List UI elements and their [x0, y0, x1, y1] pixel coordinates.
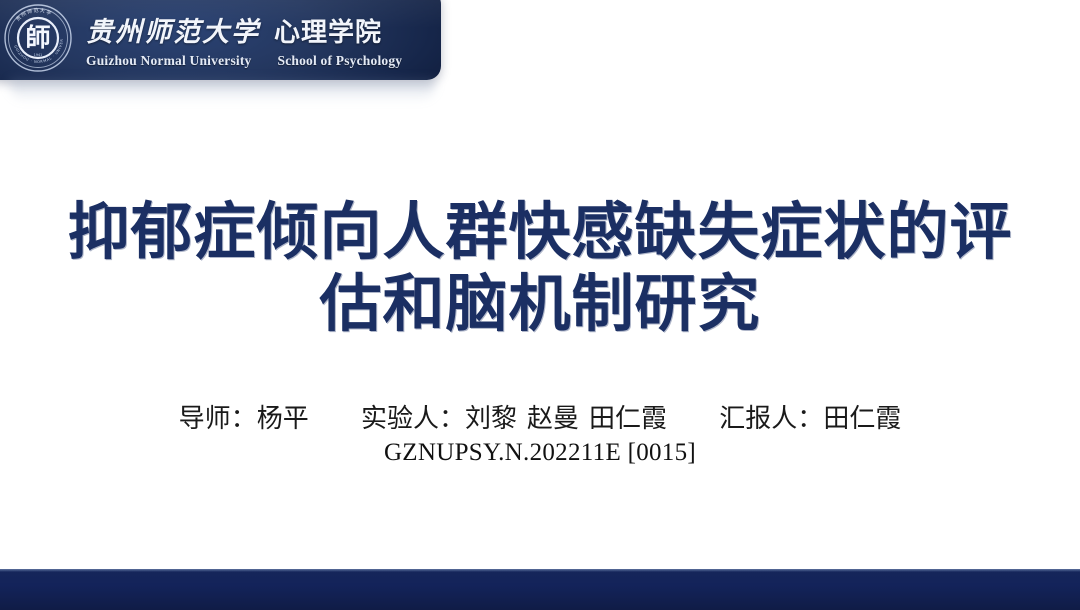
credits-line: 导师：杨平 实验人：刘黎赵曼田仁霞 汇报人：田仁霞 [0, 402, 1080, 436]
university-name-cn: 贵州师范大学 [86, 10, 260, 49]
advisor-group: 导师：杨平 [179, 402, 309, 436]
title-line-2: 估和脑机制研究 [0, 268, 1080, 340]
experimenter-name: 刘黎 [465, 404, 517, 434]
advisor-name: 杨平 [257, 404, 309, 434]
experimenter-name: 赵曼 [527, 404, 579, 434]
advisor-label: 导师： [179, 404, 257, 434]
presenter-name: 田仁霞 [823, 404, 901, 434]
school-name-en: School of Psychology [278, 53, 403, 69]
svg-text:1941: 1941 [34, 53, 43, 57]
page-title: 抑郁症倾向人群快感缺失症状的评 估和脑机制研究 [0, 196, 1080, 340]
school-name-cn: 心理学院 [274, 12, 382, 49]
footer-bar [0, 569, 1080, 610]
university-name-en: Guizhou Normal University [86, 53, 252, 69]
svg-text:師: 師 [25, 23, 50, 52]
experimenter-name: 田仁霞 [589, 404, 667, 434]
banner-drop-shadow [10, 80, 435, 102]
title-line-1: 抑郁症倾向人群快感缺失症状的评 [0, 196, 1080, 268]
university-seal-icon: 贵州师范大学 GUIZHOU · NORMAL · UNIVERSITY 師 1… [2, 2, 74, 74]
presenter-group: 汇报人：田仁霞 [719, 402, 901, 436]
experimenter-names: 刘黎赵曼田仁霞 [465, 404, 667, 434]
banner-english-line: Guizhou Normal University School of Psyc… [86, 53, 402, 69]
experimenters-group: 实验人：刘黎赵曼田仁霞 [361, 402, 667, 436]
project-code: GZNUPSY.N.202211E [0015] [0, 438, 1080, 468]
title-slide: 贵州师范大学 GUIZHOU · NORMAL · UNIVERSITY 師 1… [0, 0, 1080, 610]
experimenters-label: 实验人： [361, 404, 465, 434]
presenter-label: 汇报人： [719, 404, 823, 434]
banner-text-group: 贵州师范大学 心理学院 Guizhou Normal University Sc… [86, 10, 402, 69]
banner-chinese-line: 贵州师范大学 心理学院 [86, 10, 402, 49]
university-header-banner: 贵州师范大学 GUIZHOU · NORMAL · UNIVERSITY 師 1… [0, 0, 441, 80]
credits-block: 导师：杨平 实验人：刘黎赵曼田仁霞 汇报人：田仁霞 GZNUPSY.N.2022… [0, 402, 1080, 468]
